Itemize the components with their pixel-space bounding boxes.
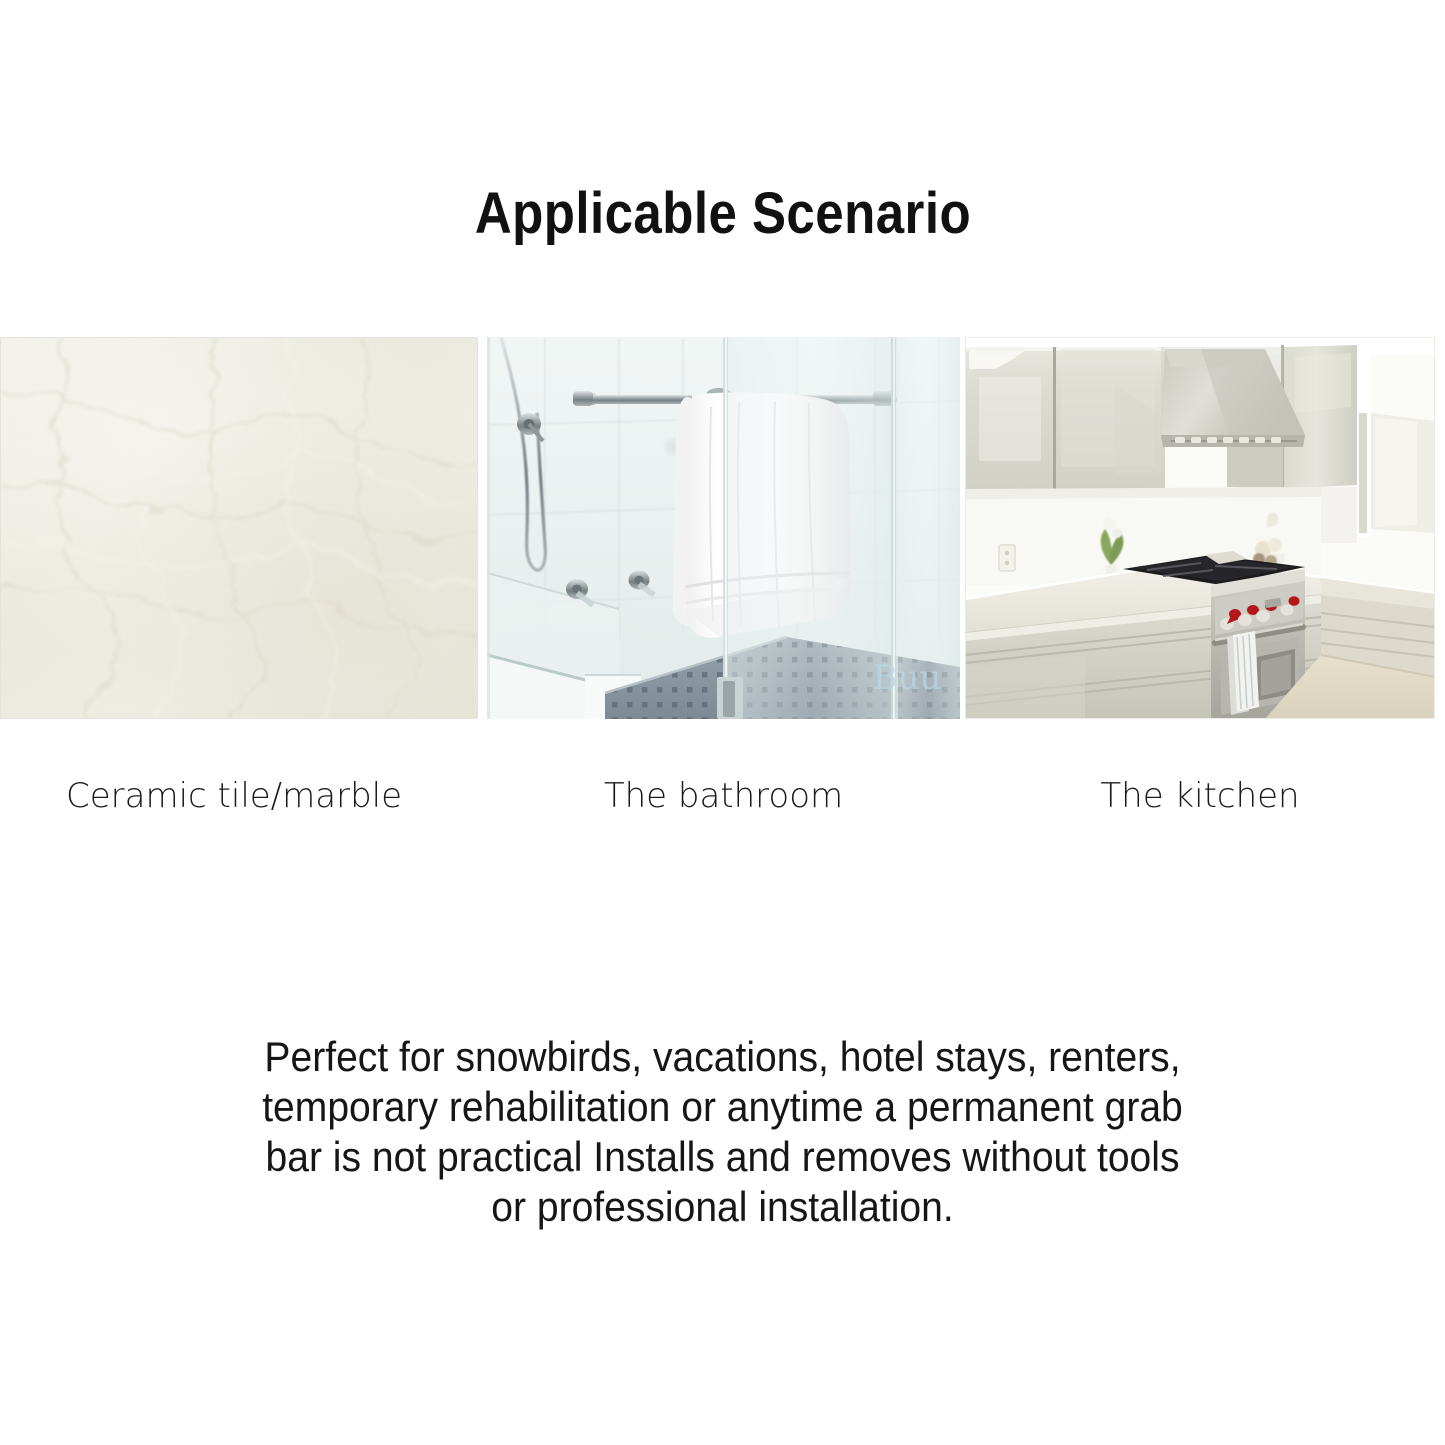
scenario-caption-row: Ceramic tile/marble The bathroom The kit…: [0, 772, 1445, 832]
marble-texture-swatch-icon: [0, 337, 478, 719]
product-description-paragraph: Perfect for snowbirds, vacations, hotel …: [227, 1032, 1217, 1232]
applicable-scenario-page: Applicable Scenario: [0, 0, 1445, 1445]
dish-towel: [1227, 631, 1259, 715]
scenario-image-bathroom: Buu: [487, 337, 960, 719]
caption-bathroom: The bathroom: [487, 772, 960, 820]
page-title: Applicable Scenario: [474, 183, 970, 245]
scenario-image-ceramic-tile: [0, 337, 478, 719]
bathroom-watermark: Buu: [873, 658, 942, 698]
caption-ceramic-tile: Ceramic tile/marble: [0, 772, 478, 820]
kitchen-photo-icon: [965, 337, 1435, 719]
description-line-1: Perfect for snowbirds, vacations, hotel …: [227, 1032, 1217, 1082]
scenario-image-kitchen: [965, 337, 1435, 719]
bathroom-photo-icon: Buu: [487, 337, 960, 719]
description-line-3: bar is not practical Installs and remove…: [227, 1132, 1217, 1182]
description-line-4: or professional installation.: [227, 1182, 1217, 1232]
description-line-2: temporary rehabilitation or anytime a pe…: [227, 1082, 1217, 1132]
caption-kitchen: The kitchen: [965, 772, 1435, 820]
scenario-image-row: Buu: [0, 337, 1445, 719]
page-title-container: Applicable Scenario: [0, 183, 1445, 245]
